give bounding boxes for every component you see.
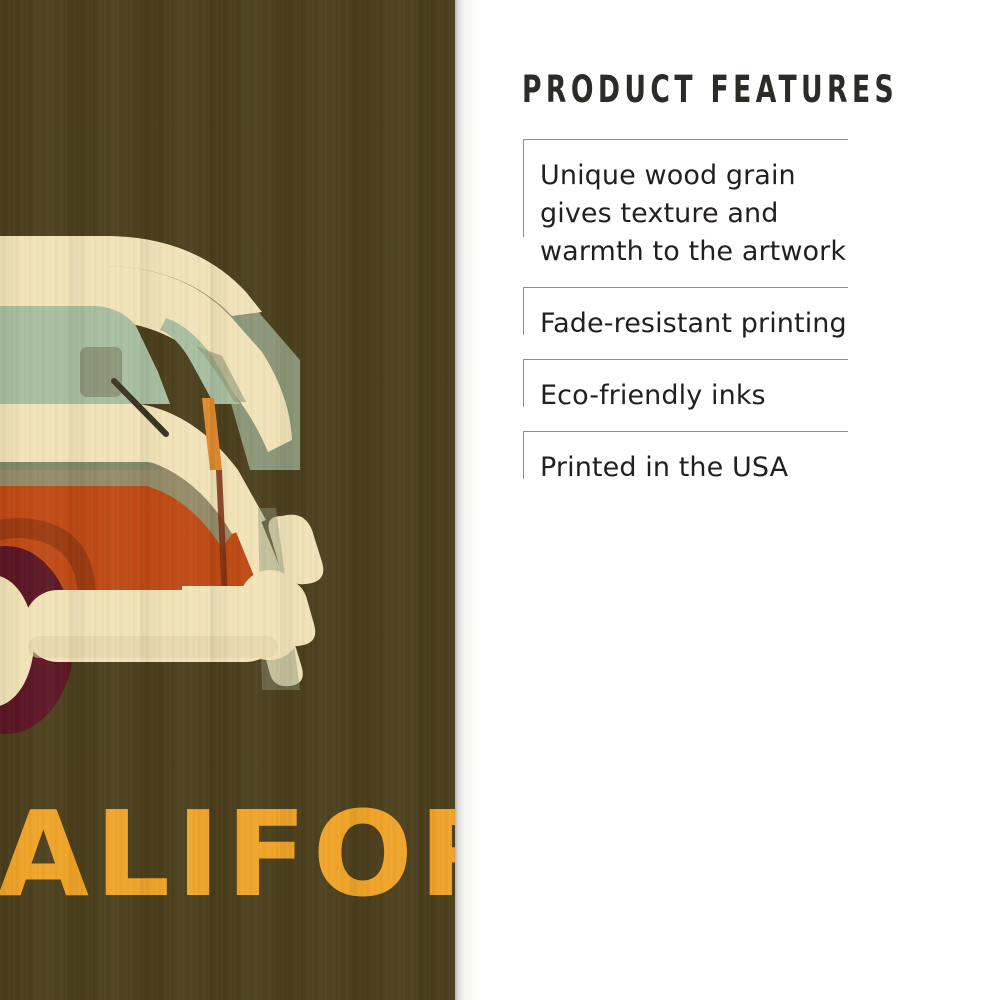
feature-item: Printed in the USA bbox=[523, 431, 848, 503]
print-edge-shadow bbox=[455, 0, 481, 1000]
artwork-panel: CALIFORNIA bbox=[0, 0, 455, 1000]
feature-item-text: Unique wood grain gives texture and warm… bbox=[540, 157, 848, 271]
bumper-shade bbox=[28, 636, 278, 658]
feature-item: Fade-resistant printing bbox=[523, 287, 848, 359]
feature-item: Unique wood grain gives texture and warm… bbox=[523, 139, 848, 287]
feature-item-text: Fade-resistant printing bbox=[540, 305, 848, 343]
side-mirror bbox=[80, 347, 122, 397]
california-wordmark: CALIFORNIA bbox=[0, 795, 455, 913]
feature-item-text: Eco-friendly inks bbox=[540, 377, 848, 415]
product-features-list: Unique wood grain gives texture and warm… bbox=[523, 139, 848, 503]
feature-item-text: Printed in the USA bbox=[540, 449, 848, 487]
product-features-panel: PRODUCT FEATURES Unique wood grain gives… bbox=[505, 0, 1000, 1000]
feature-item: Eco-friendly inks bbox=[523, 359, 848, 431]
product-features-heading: PRODUCT FEATURES bbox=[522, 68, 898, 111]
